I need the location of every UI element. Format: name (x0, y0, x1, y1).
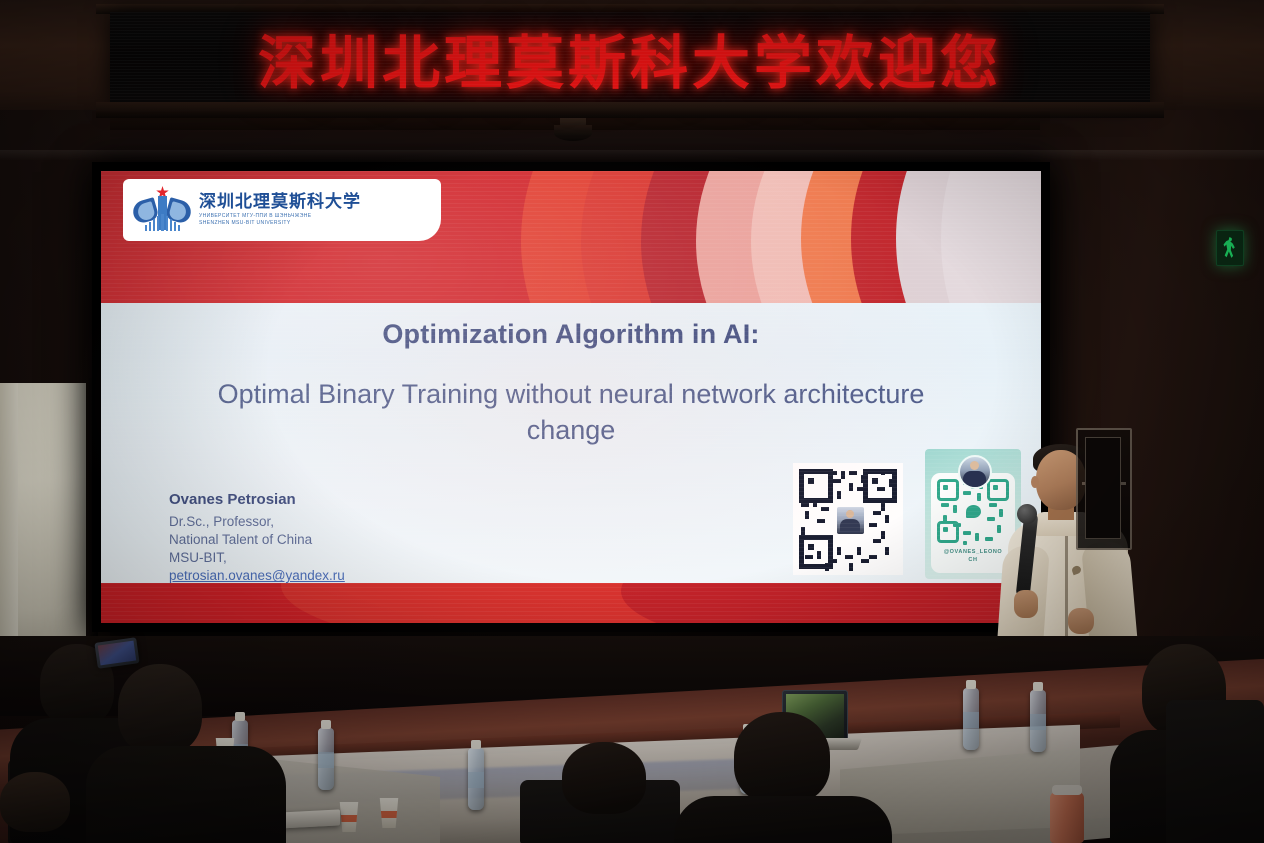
author-block: Ovanes Petrosian Dr.Sc., Professor, Nati… (169, 491, 499, 585)
logo-chinese-name: 深圳北理莫斯科大学 (199, 194, 361, 211)
audience-member (0, 772, 110, 843)
audience-member (664, 712, 894, 843)
slide-title: Optimization Algorithm in AI: (101, 319, 1041, 350)
projection-screen: 深圳北理莫斯科大学 УНИВЕРСИТЕТ МГУ-ППИ В ШЭНЬЧЖЭН… (92, 162, 1050, 632)
wechat-handle-line2: CH (968, 557, 977, 563)
logo-english-name: SHENZHEN MSU-BIT UNIVERSITY (199, 221, 361, 226)
thermos-flask (1050, 792, 1084, 843)
author-affiliation-2: MSU-BIT, (169, 549, 499, 567)
water-bottle (1030, 690, 1046, 752)
author-affiliation-1: National Talent of China (169, 531, 499, 549)
emergency-exit-icon (1216, 230, 1244, 266)
running-man-glyph (1223, 237, 1237, 259)
logo-russian-name: УНИВЕРСИТЕТ МГУ-ППИ В ШЭНЬЧЖЭНЕ (199, 214, 361, 219)
led-banner-frame-bottom (96, 102, 1164, 118)
left-wall-panel-edge (0, 383, 18, 653)
wechat-avatar-icon (958, 455, 992, 489)
audience-member (100, 664, 260, 843)
led-banner-text: 深圳北理莫斯科大学欢迎您 (258, 16, 1002, 100)
university-crest-icon (133, 186, 191, 234)
slide-footer-band (101, 583, 1041, 623)
slide-subtitle: Optimal Binary Training without neural n… (171, 376, 971, 449)
author-name: Ovanes Petrosian (169, 491, 499, 508)
led-welcome-banner: 深圳北理莫斯科大学欢迎您 (110, 12, 1150, 104)
water-bottle (963, 688, 979, 750)
wall-panel-behind-speaker-inner (1085, 437, 1121, 539)
university-logo: 深圳北理莫斯科大学 УНИВЕРСИТЕТ МГУ-ППИ В ШЭНЬЧЖЭН… (123, 179, 441, 241)
presentation-photo-scene: 深圳北理莫斯科大学欢迎您 (0, 0, 1264, 843)
author-title: Dr.Sc., Professor, (169, 513, 499, 531)
water-bottle (318, 728, 334, 790)
presentation-slide: 深圳北理莫斯科大学 УНИВЕРСИТЕТ МГУ-ППИ В ШЭНЬЧЖЭН… (101, 171, 1041, 623)
ceiling-rail (0, 150, 1264, 160)
wechat-logo-icon (966, 505, 981, 518)
qr-avatar-icon (835, 505, 866, 536)
chair (1166, 700, 1264, 843)
qr-code-primary[interactable] (793, 463, 903, 575)
water-bottle (468, 748, 484, 810)
